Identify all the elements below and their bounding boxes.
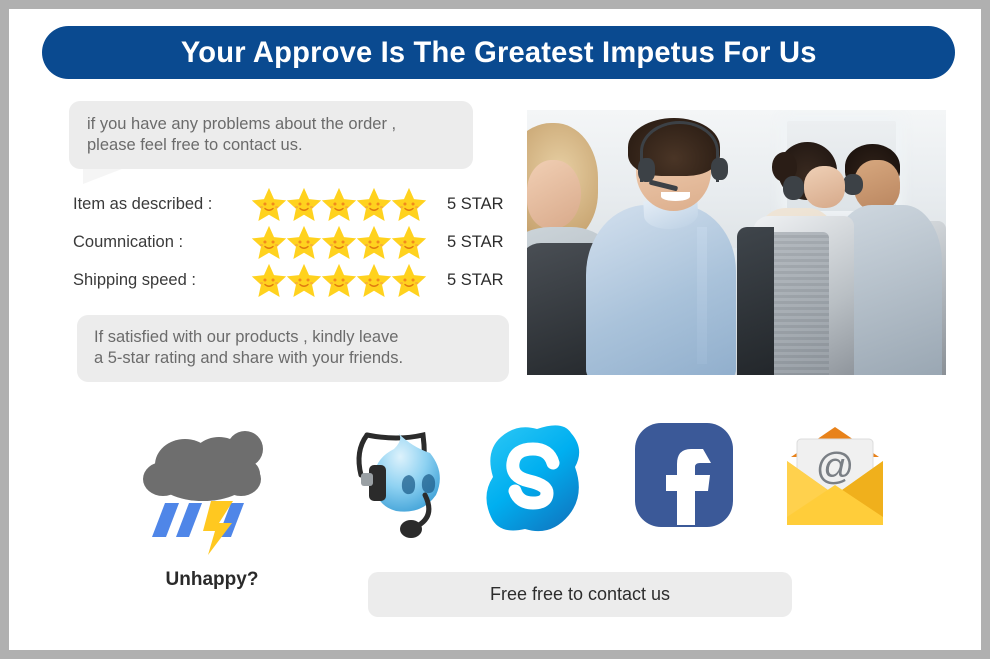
call-center-photo-inner <box>527 110 946 375</box>
satisfaction-note-line-1: If satisfied with our products , kindly … <box>94 327 495 348</box>
star-group <box>251 225 435 259</box>
contact-bar[interactable]: Free free to contact us <box>368 572 792 617</box>
rating-row: Coumnication : 5 STAR <box>73 223 513 261</box>
rating-label: Item as described : <box>73 195 251 214</box>
trademanager-block[interactable] <box>339 417 469 547</box>
star-icon <box>391 263 427 297</box>
star-icon <box>286 187 322 221</box>
star-icon <box>391 225 427 259</box>
star-icon <box>321 263 357 297</box>
ratings-list: Item as described : 5 STAR Coumnication … <box>73 185 513 299</box>
contact-icon-row: Unhappy? <box>9 417 981 577</box>
header-banner: Your Approve Is The Greatest Impetus For… <box>42 26 955 79</box>
rating-row: Item as described : 5 STAR <box>73 185 513 223</box>
star-icon <box>321 225 357 259</box>
email-at-symbol: @ <box>816 446 855 488</box>
star-icon <box>251 187 287 221</box>
facebook-block[interactable] <box>629 417 739 547</box>
rating-row: Shipping speed : 5 STAR <box>73 261 513 299</box>
speech-bubble-tail <box>83 167 127 184</box>
speech-bubble: if you have any problems about the order… <box>69 101 473 169</box>
contact-bar-label: Free free to contact us <box>490 584 670 605</box>
unhappy-caption: Unhappy? <box>137 569 287 591</box>
star-icon <box>356 187 392 221</box>
email-block[interactable]: @ <box>771 417 899 547</box>
star-icon <box>356 263 392 297</box>
star-icon <box>321 187 357 221</box>
star-icon <box>286 225 322 259</box>
rating-label: Shipping speed : <box>73 271 251 290</box>
rating-value: 5 STAR <box>447 195 504 214</box>
rating-value: 5 STAR <box>447 233 504 252</box>
speech-bubble-line-1: if you have any problems about the order… <box>87 114 457 135</box>
star-icon <box>391 187 427 221</box>
satisfaction-note-line-2: a 5-star rating and share with your frie… <box>94 348 495 369</box>
page-canvas: Your Approve Is The Greatest Impetus For… <box>9 9 981 650</box>
left-column: if you have any problems about the order… <box>69 101 509 386</box>
star-icon <box>251 263 287 297</box>
speech-bubble-line-2: please feel free to contact us. <box>87 135 457 156</box>
rating-label: Coumnication : <box>73 233 251 252</box>
trademanager-icon[interactable] <box>339 417 469 545</box>
call-center-photo <box>518 101 955 384</box>
skype-block[interactable] <box>481 417 593 547</box>
star-icon <box>356 225 392 259</box>
star-group <box>251 187 435 221</box>
star-icon <box>286 263 322 297</box>
rating-value: 5 STAR <box>447 271 504 290</box>
star-icon <box>251 225 287 259</box>
star-group <box>251 263 435 297</box>
skype-icon[interactable] <box>481 417 593 539</box>
unhappy-block: Unhappy? <box>137 417 287 577</box>
satisfaction-note: If satisfied with our products , kindly … <box>77 315 509 382</box>
storm-cloud-rain-icon <box>137 417 287 557</box>
page-title: Your Approve Is The Greatest Impetus For… <box>181 36 817 70</box>
email-envelope-icon[interactable]: @ <box>771 417 899 537</box>
facebook-icon[interactable] <box>629 417 739 537</box>
